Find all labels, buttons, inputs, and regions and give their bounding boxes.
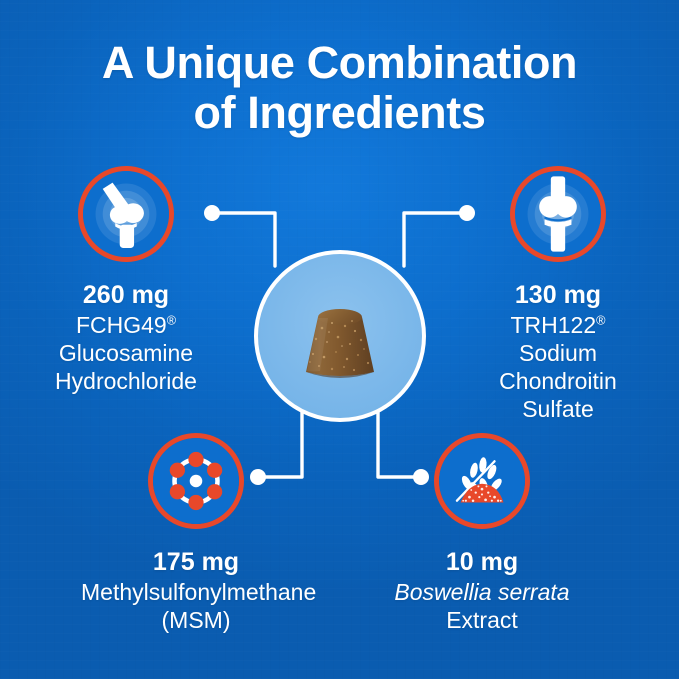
knee-joint-icon [78, 166, 174, 262]
ingredient-name-line: Sulfate [443, 395, 673, 423]
ingredient-name: Methylsulfonylmethane (MSM) [81, 578, 311, 634]
ingredient-name: Boswellia serrata Extract [367, 578, 597, 634]
ingredient-top-right: 130 mg TRH122® Sodium Chondroitin Sulfat… [443, 166, 673, 423]
ingredient-name-line: Sodium [443, 339, 673, 367]
chewable-tablet-icon [288, 294, 392, 398]
ingredient-bottom-left: 175 mg Methylsulfonylmethane (MSM) [81, 433, 311, 634]
ingredient-name-line: TRH122® [443, 311, 673, 339]
ingredient-name-line: Glucosamine [11, 339, 241, 367]
registered-trademark-icon: ® [167, 313, 176, 327]
ingredient-top-left: 260 mg FCHG49® Glucosamine Hydrochloride [11, 166, 241, 395]
ingredient-name-line: Boswellia serrata [367, 578, 597, 606]
ingredients-infographic: A Unique Combination of Ingredients [0, 0, 679, 679]
boswellia-plant-icon [434, 433, 530, 529]
ingredient-name-line: (MSM) [81, 606, 311, 634]
bone-joint-icon [510, 166, 606, 262]
page-title: A Unique Combination of Ingredients [0, 38, 679, 139]
product-image-circle [254, 250, 426, 422]
title-line-1: A Unique Combination [0, 38, 679, 88]
ingredient-name: FCHG49® Glucosamine Hydrochloride [11, 311, 241, 395]
ingredient-name-line: FCHG49® [11, 311, 241, 339]
ingredient-amount: 175 mg [81, 548, 311, 577]
ingredient-name-line: Chondroitin [443, 367, 673, 395]
title-line-2: of Ingredients [0, 88, 679, 138]
ingredient-bottom-right: 10 mg Boswellia serrata Extract [367, 433, 597, 634]
molecule-icon [148, 433, 244, 529]
ingredient-name-line: Hydrochloride [11, 367, 241, 395]
ingredient-amount: 260 mg [11, 281, 241, 310]
ingredient-amount: 130 mg [443, 281, 673, 310]
ingredient-name: TRH122® Sodium Chondroitin Sulfate [443, 311, 673, 423]
registered-trademark-icon: ® [596, 313, 605, 327]
ingredient-name-line: Extract [367, 606, 597, 634]
ingredient-name-line: Methylsulfonylmethane [81, 578, 311, 606]
ingredient-amount: 10 mg [367, 548, 597, 577]
